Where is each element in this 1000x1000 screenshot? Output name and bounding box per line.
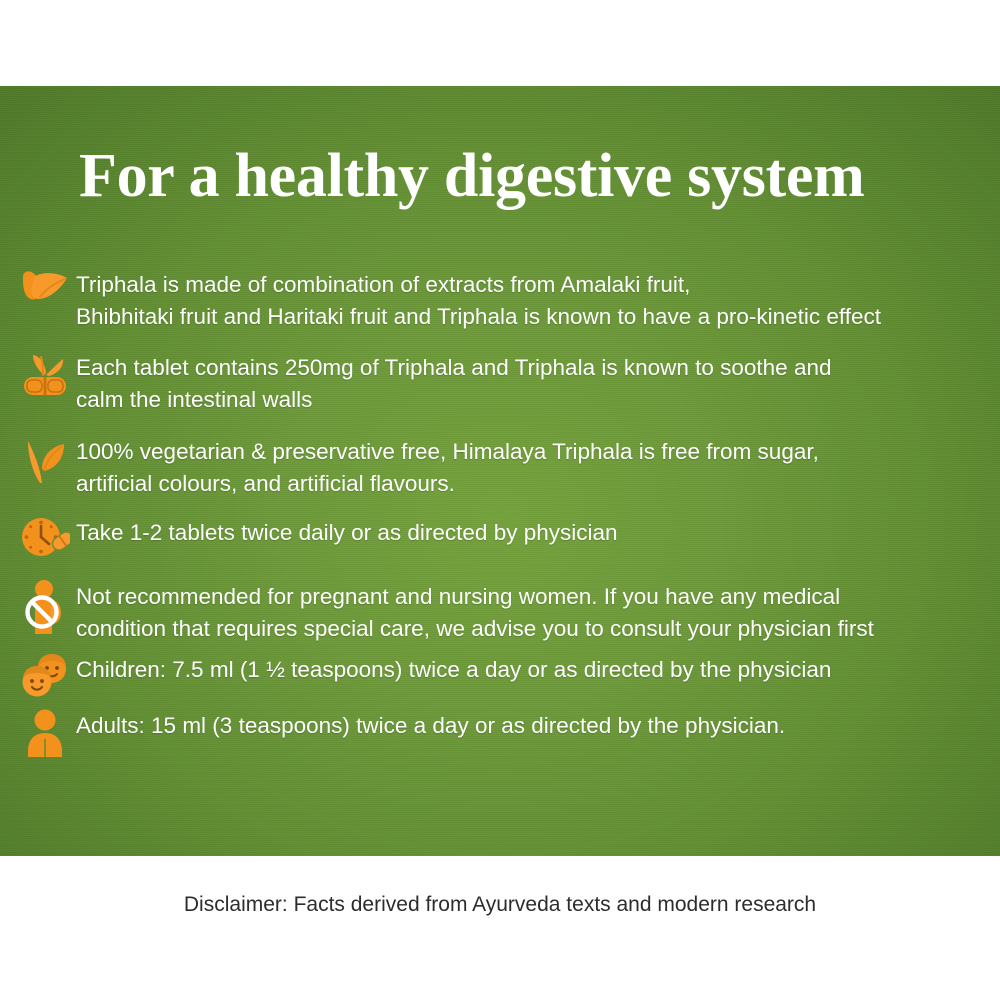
benefits-list: Triphala is made of combination of extra… — [14, 266, 989, 759]
list-item-text: Children: 7.5 ml (1 ½ teaspoons) twice a… — [76, 651, 989, 686]
list-item: Adults: 15 ml (3 teaspoons) twice a day … — [14, 707, 989, 759]
list-item: Not recommended for pregnant and nursing… — [14, 578, 989, 645]
list-item-line-2: Bhibhitaki fruit and Haritaki fruit and … — [76, 301, 989, 333]
list-item-line-1: Triphala is made of combination of extra… — [76, 272, 690, 297]
list-item-text: Not recommended for pregnant and nursing… — [76, 578, 989, 645]
green-content-panel: For a healthy digestive system Triphala … — [0, 86, 1000, 856]
list-item-text: Take 1-2 tablets twice daily or as direc… — [76, 514, 989, 549]
no-pregnancy-icon — [14, 578, 76, 630]
list-item-line-2: condition that requires special care, we… — [76, 613, 989, 645]
list-item: 100% vegetarian & preservative free, Him… — [14, 433, 989, 500]
list-item-line-2: artificial colours, and artificial flavo… — [76, 468, 989, 500]
list-item-text: Each tablet contains 250mg of Triphala a… — [76, 349, 989, 416]
page-title: For a healthy digestive system — [79, 144, 939, 209]
list-item: Take 1-2 tablets twice daily or as direc… — [14, 514, 989, 566]
children-faces-icon — [14, 651, 76, 703]
adult-person-icon — [14, 707, 76, 759]
sprout-icon — [14, 433, 76, 489]
list-item: Children: 7.5 ml (1 ½ teaspoons) twice a… — [14, 651, 989, 703]
list-item-line-1: Take 1-2 tablets twice daily or as direc… — [76, 520, 618, 545]
list-item-line-2: calm the intestinal walls — [76, 384, 989, 416]
list-item-line-1: Children: 7.5 ml (1 ½ teaspoons) twice a… — [76, 657, 831, 682]
list-item-line-1: Not recommended for pregnant and nursing… — [76, 584, 840, 609]
product-info-graphic: For a healthy digestive system Triphala … — [0, 0, 1000, 1000]
list-item: Triphala is made of combination of extra… — [14, 266, 989, 333]
leaf-icon — [14, 266, 76, 322]
list-item-text: Adults: 15 ml (3 teaspoons) twice a day … — [76, 707, 989, 742]
clock-pills-icon — [14, 514, 76, 566]
list-item-line-1: Each tablet contains 250mg of Triphala a… — [76, 355, 832, 380]
tablet-leaf-icon — [14, 349, 76, 405]
list-item-text: 100% vegetarian & preservative free, Him… — [76, 433, 989, 500]
list-item: Each tablet contains 250mg of Triphala a… — [14, 349, 989, 416]
list-item-line-1: 100% vegetarian & preservative free, Him… — [76, 439, 819, 464]
list-item-line-1: Adults: 15 ml (3 teaspoons) twice a day … — [76, 713, 785, 738]
disclaimer-text: Disclaimer: Facts derived from Ayurveda … — [0, 893, 1000, 917]
list-item-text: Triphala is made of combination of extra… — [76, 266, 989, 333]
